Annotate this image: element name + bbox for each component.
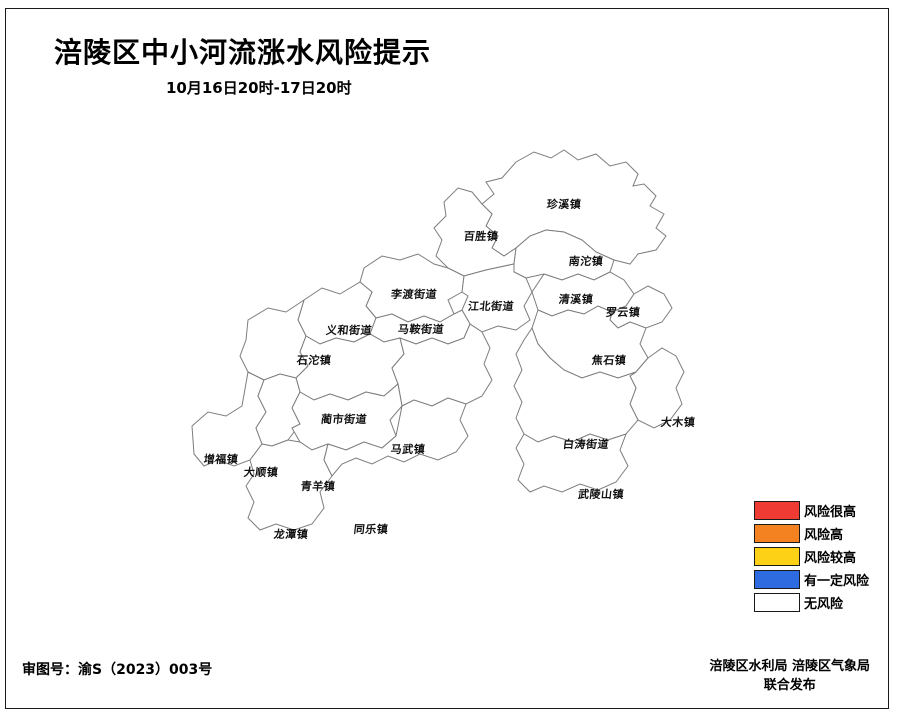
- page-title: 涪陵区中小河流涨水风险提示: [54, 31, 431, 71]
- legend-item[interactable]: 风险高: [754, 522, 894, 545]
- page-subtitle: 10月16日20时-17日20时: [166, 77, 352, 98]
- legend-label: 有一定风险: [804, 570, 869, 589]
- township-yihe[interactable]: [298, 282, 376, 344]
- township-shituo[interactable]: [240, 300, 308, 380]
- legend-label: 无风险: [804, 593, 843, 612]
- legend-item[interactable]: 风险很高: [754, 499, 894, 522]
- legend-item[interactable]: 有一定风险: [754, 568, 894, 591]
- legend-swatch-fairly-high: [754, 547, 800, 566]
- township-linshi[interactable]: [296, 334, 404, 400]
- legend-label: 风险很高: [804, 501, 856, 520]
- township-polygons: [192, 150, 684, 530]
- legend-item[interactable]: 风险较高: [754, 545, 894, 568]
- legend-swatch-very-high: [754, 501, 800, 520]
- legend-swatch-high: [754, 524, 800, 543]
- issuing-agencies: 涪陵区水利局 涪陵区气象局 联合发布: [709, 657, 870, 695]
- issuer-line-2: 联合发布: [709, 676, 870, 695]
- risk-map[interactable]: 珍溪镇 百胜镇 南沱镇 李渡街道 江北街道 清溪镇 罗云镇 义和街道 马鞍街道 …: [186, 144, 716, 584]
- legend-label: 风险较高: [804, 547, 856, 566]
- township-wulingshan[interactable]: [516, 434, 628, 492]
- poster-frame: 涪陵区中小河流涨水风险提示 10月16日20时-17日20时: [5, 8, 889, 709]
- issuer-line-1: 涪陵区水利局 涪陵区气象局: [709, 657, 870, 676]
- map-approval-number: 审图号：渝S（2023）003号: [22, 659, 212, 679]
- legend-item[interactable]: 无风险: [754, 591, 894, 614]
- township-zengfu[interactable]: [192, 372, 266, 466]
- legend-swatch-some-risk: [754, 570, 800, 589]
- legend-swatch-no-risk: [754, 593, 800, 612]
- legend: 风险很高 风险高 风险较高 有一定风险 无风险: [754, 499, 894, 614]
- legend-label: 风险高: [804, 524, 843, 543]
- township-longtan[interactable]: [246, 440, 332, 530]
- map-svg: [186, 144, 716, 584]
